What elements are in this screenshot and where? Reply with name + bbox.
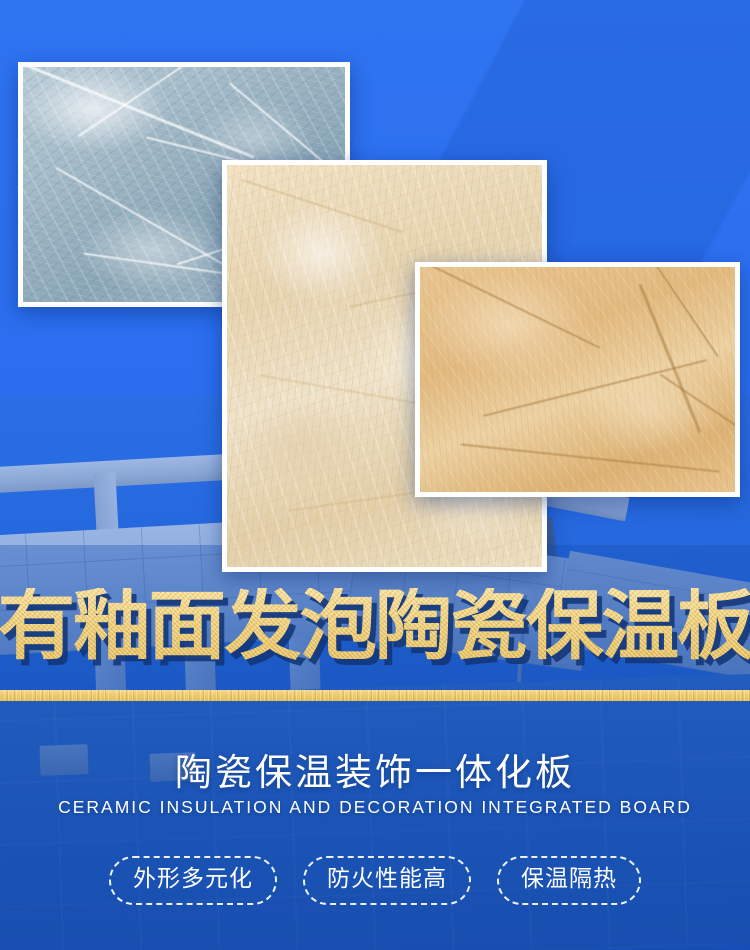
feature-pill[interactable]: 保温隔热 <box>497 856 641 905</box>
feature-pill[interactable]: 防火性能高 <box>303 856 471 905</box>
feature-pill[interactable]: 外形多元化 <box>109 856 277 905</box>
gold-divider-bar <box>0 690 750 701</box>
tan-marble-tile <box>420 267 735 492</box>
subtitle-english: CERAMIC INSULATION AND DECORATION INTEGR… <box>0 797 750 818</box>
page-title: 有釉面发泡陶瓷保温板 <box>0 588 750 664</box>
product-banner-poster: 有釉面发泡陶瓷保温板 陶瓷保温装饰一体化板 CERAMIC INSULATION… <box>0 0 750 950</box>
feature-pill-list: 外形多元化 防火性能高 保温隔热 <box>0 856 750 905</box>
list-item[interactable] <box>415 262 740 497</box>
subtitle-chinese: 陶瓷保温装饰一体化板 <box>0 742 750 796</box>
